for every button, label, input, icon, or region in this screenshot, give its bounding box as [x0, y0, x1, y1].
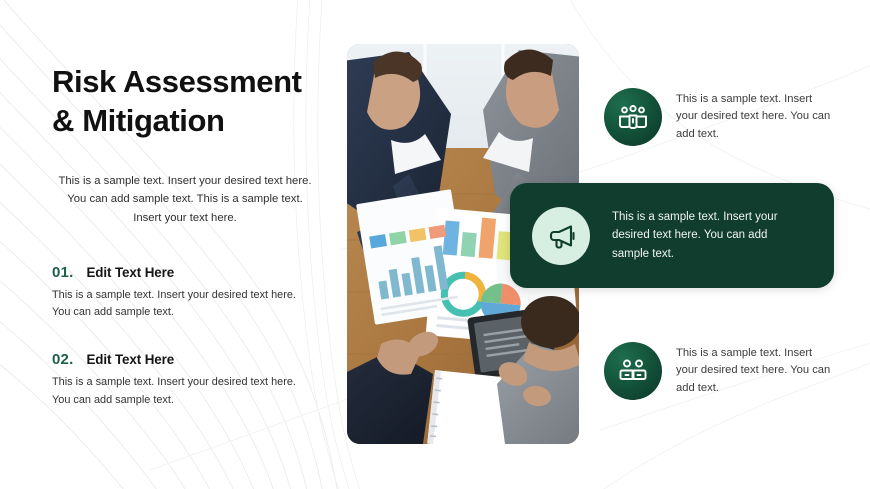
highlight-card[interactable]: This is a sample text. Insert your desir… — [510, 183, 834, 288]
feature-text: This is a sample text. Insert your desir… — [676, 91, 836, 143]
list-item-number: 02. — [52, 351, 73, 368]
list-item-heading: 01. Edit Text Here — [52, 264, 324, 281]
list-item-body: This is a sample text. Insert your desir… — [52, 287, 300, 321]
highlight-card-text: This is a sample text. Insert your desir… — [612, 208, 796, 262]
group-people-icon — [604, 88, 662, 146]
feature-row-bottom[interactable]: This is a sample text. Insert your desir… — [604, 342, 836, 400]
list-item-heading: 02. Edit Text Here — [52, 351, 324, 368]
slide-canvas: Risk Assessment & Mitigation This is a s… — [0, 0, 870, 489]
page-title: Risk Assessment & Mitigation — [52, 62, 320, 140]
list-item-title: Edit Text Here — [86, 265, 174, 280]
two-people-desks-icon — [604, 342, 662, 400]
list-item-number: 01. — [52, 264, 73, 281]
list-item[interactable]: 02. Edit Text Here This is a sample text… — [52, 351, 324, 408]
megaphone-icon — [532, 207, 590, 265]
intro-paragraph: This is a sample text. Insert your desir… — [52, 172, 314, 227]
numbered-list: 01. Edit Text Here This is a sample text… — [52, 264, 324, 439]
feature-row-top[interactable]: This is a sample text. Insert your desir… — [604, 88, 836, 146]
left-content-column: Risk Assessment & Mitigation This is a s… — [52, 62, 320, 227]
list-item[interactable]: 01. Edit Text Here This is a sample text… — [52, 264, 324, 321]
list-item-title: Edit Text Here — [86, 352, 174, 367]
feature-text: This is a sample text. Insert your desir… — [676, 345, 836, 397]
list-item-body: This is a sample text. Insert your desir… — [52, 374, 300, 408]
